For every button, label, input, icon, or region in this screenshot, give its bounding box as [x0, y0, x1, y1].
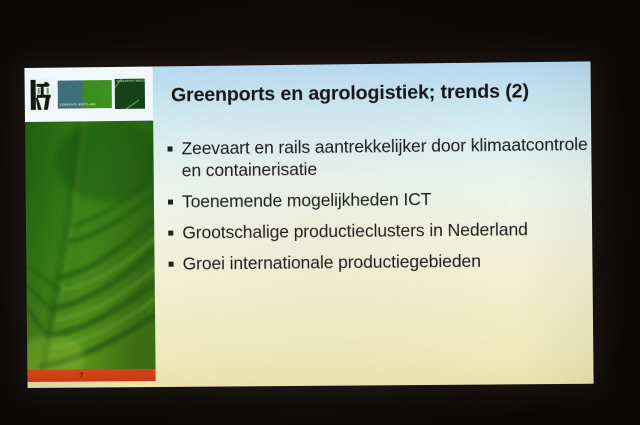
bullet-text: Toenemende mogelijkheden ICT	[182, 189, 432, 213]
slide-number: 7	[79, 371, 83, 382]
gemeente-westland-wordmark-logo: GEMEENTE WESTLAND	[58, 80, 112, 109]
bullet-text: Groei internationale productiegebieden	[183, 250, 481, 275]
logo-band: GEMEENTE WESTLAND GREENPORT WESTLAND	[24, 67, 153, 122]
list-item: Zeevaart en rails aantrekkelijker door k…	[167, 134, 591, 182]
accent-bar: 7	[27, 369, 155, 382]
list-item: Toenemende mogelijkheden ICT	[168, 187, 592, 213]
greenport-westland-logo: GREENPORT WESTLAND	[115, 79, 145, 109]
bullet-text: Grootschalige productieclusters in Neder…	[182, 219, 528, 244]
crest-glyph-icon	[29, 78, 55, 112]
projection-room: 7	[0, 0, 640, 425]
bullet-text: Zeevaart en rails aantrekkelijker door k…	[181, 134, 591, 182]
bullet-list: Zeevaart en rails aantrekkelijker door k…	[167, 134, 592, 284]
bullet-square-icon	[167, 146, 172, 151]
green-leaf-photo	[25, 121, 156, 374]
slide-canvas: 7	[24, 61, 593, 388]
projected-slide: 7	[24, 61, 593, 388]
slide-title: Greenports en agrologistiek; trends (2)	[171, 80, 575, 107]
leaf-photo-graphic	[25, 121, 156, 374]
bullet-square-icon	[168, 230, 173, 235]
gemeente-westland-wordmark-label: GEMEENTE WESTLAND	[60, 104, 110, 107]
gemeente-westland-crest-logo	[29, 78, 55, 112]
list-item: Grootschalige productieclusters in Neder…	[168, 218, 592, 244]
list-item: Groei internationale productiegebieden	[168, 249, 592, 275]
bullet-square-icon	[168, 199, 173, 204]
bullet-square-icon	[169, 261, 174, 266]
